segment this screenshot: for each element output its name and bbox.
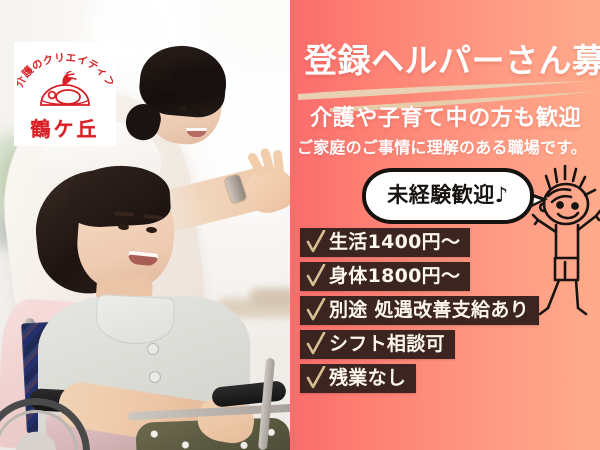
list-item: 別途 処遇改善支給あり: [300, 296, 600, 330]
list-item: シフト相談可: [300, 330, 600, 364]
page-title: 登録ヘルパーさん募集: [304, 44, 600, 77]
check-icon: [306, 298, 326, 322]
job-ad-banner: 介護のクリエイティブ 鶴ケ丘 登録ヘルパーさん募集: [0, 0, 600, 450]
benefit-label: シフト相談可: [329, 335, 445, 354]
speech-bubble-label: 未経験歓迎♪: [387, 185, 508, 206]
care-photo: 介護のクリエイティブ 鶴ケ丘: [0, 0, 290, 450]
speech-bubble: 未経験歓迎♪: [362, 168, 552, 226]
company-logo: 介護のクリエイティブ 鶴ケ丘: [14, 42, 116, 146]
benefit-label: 身体1800円〜: [329, 267, 460, 286]
benefit-label: 残業なし: [329, 369, 406, 388]
crane-hill-mark-icon: [37, 71, 93, 111]
list-item: 残業なし: [300, 364, 600, 398]
logo-company-name: 鶴ケ丘: [17, 119, 113, 139]
cardigan-button: [148, 344, 158, 354]
benefit-label: 別途 処遇改善支給あり: [329, 301, 529, 320]
list-item: 身体1800円〜: [300, 262, 600, 296]
benefits-list: 生活1400円〜 身体1800円〜 別途 処遇改善支給あり: [300, 228, 600, 398]
benefit-label: 生活1400円〜: [329, 233, 460, 252]
subtitle-primary: 介護や子育て中の方も歓迎: [310, 108, 581, 130]
check-icon: [306, 366, 326, 390]
check-icon: [306, 332, 326, 356]
promo-panel: 登録ヘルパーさん募集 介護や子育て中の方も歓迎 ご家庭のご事情に理解のある職場で…: [290, 0, 600, 450]
list-item: 生活1400円〜: [300, 228, 600, 262]
blurred-handrail: [250, 288, 290, 304]
check-icon: [306, 230, 326, 254]
cardigan-button: [150, 372, 160, 382]
check-icon: [306, 264, 326, 288]
subtitle-secondary: ご家庭のご事情に理解のある職場です。: [297, 140, 587, 156]
